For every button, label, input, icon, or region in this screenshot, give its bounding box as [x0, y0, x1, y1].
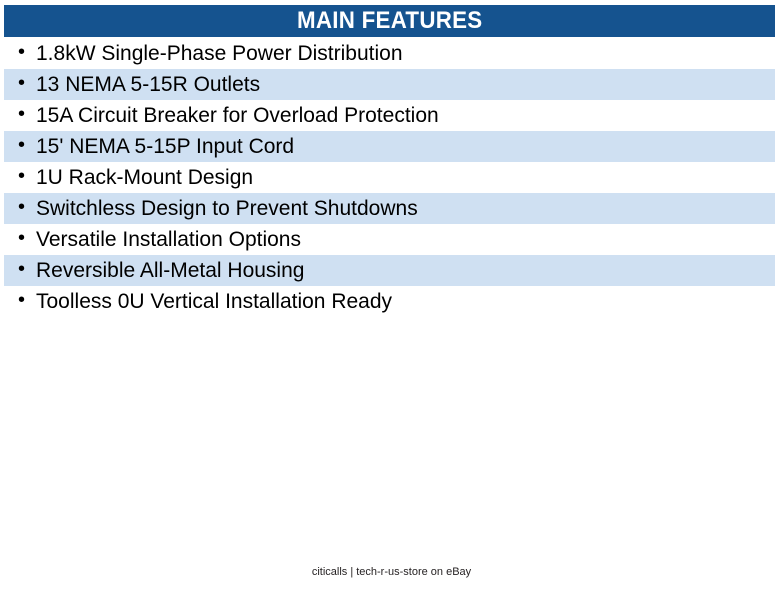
footer-credit: citicalls | tech-r-us-store on eBay [0, 566, 783, 579]
feature-list-item: •15' NEMA 5-15P Input Cord [4, 131, 775, 162]
feature-list-item: •1U Rack-Mount Design [4, 162, 775, 193]
feature-list-item: •Switchless Design to Prevent Shutdowns [4, 193, 775, 224]
feature-item-label: 1U Rack-Mount Design [36, 167, 253, 188]
feature-list-item: •13 NEMA 5-15R Outlets [4, 69, 775, 100]
feature-list-item: •15A Circuit Breaker for Overload Protec… [4, 100, 775, 131]
bullet-icon: • [18, 197, 36, 220]
bullet-icon: • [18, 228, 36, 251]
page-title: MAIN FEATURES [297, 9, 482, 33]
feature-item-label: Versatile Installation Options [36, 229, 301, 250]
feature-list-item: •Versatile Installation Options [4, 224, 775, 255]
feature-item-label: 1.8kW Single-Phase Power Distribution [36, 43, 403, 64]
bullet-icon: • [18, 73, 36, 96]
main-features-panel: MAIN FEATURES •1.8kW Single-Phase Power … [0, 0, 783, 589]
bullet-icon: • [18, 42, 36, 65]
feature-item-label: 15A Circuit Breaker for Overload Protect… [36, 105, 439, 126]
feature-item-label: Switchless Design to Prevent Shutdowns [36, 198, 418, 219]
main-features-header: MAIN FEATURES [4, 5, 775, 37]
bullet-icon: • [18, 259, 36, 282]
feature-list-item: •Toolless 0U Vertical Installation Ready [4, 286, 775, 317]
feature-list-item: •Reversible All-Metal Housing [4, 255, 775, 286]
feature-item-label: Reversible All-Metal Housing [36, 260, 304, 281]
feature-item-label: 13 NEMA 5-15R Outlets [36, 74, 260, 95]
bullet-icon: • [18, 104, 36, 127]
bullet-icon: • [18, 290, 36, 313]
feature-list-item: •1.8kW Single-Phase Power Distribution [4, 38, 775, 69]
bullet-icon: • [18, 135, 36, 158]
feature-item-label: Toolless 0U Vertical Installation Ready [36, 291, 392, 312]
feature-item-label: 15' NEMA 5-15P Input Cord [36, 136, 294, 157]
features-list: •1.8kW Single-Phase Power Distribution•1… [4, 38, 775, 317]
bullet-icon: • [18, 166, 36, 189]
